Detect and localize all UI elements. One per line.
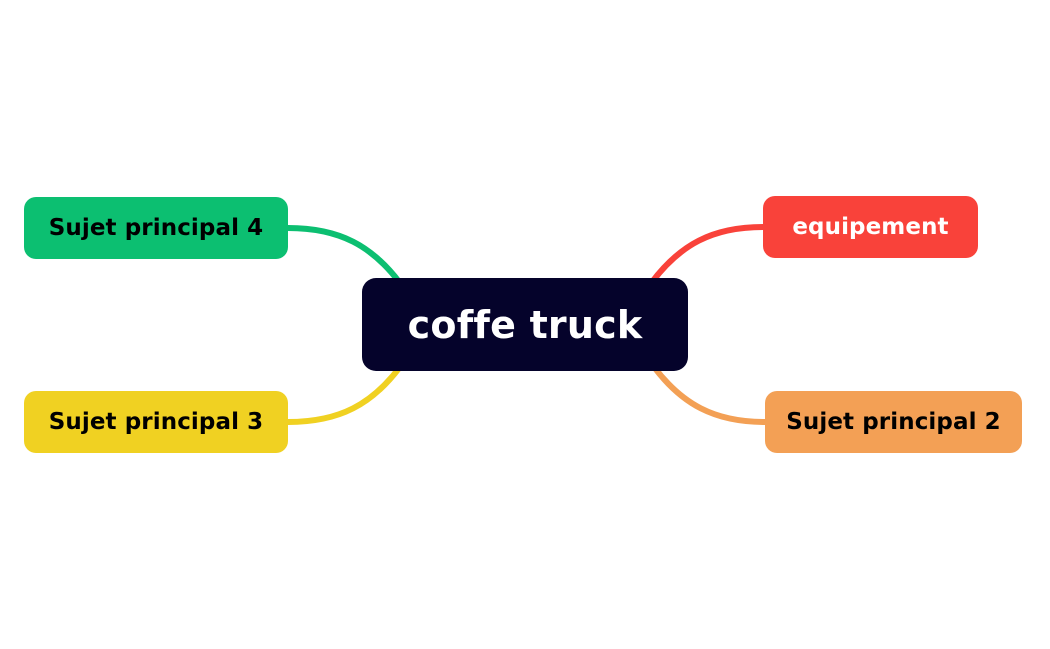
mindmap-node-label: equipement: [792, 216, 948, 239]
connector-root-to-green: [288, 228, 400, 283]
connector-root-to-orange: [654, 367, 765, 422]
mindmap-node-sujet-principal-2[interactable]: Sujet principal 2: [765, 391, 1022, 453]
mindmap-node-label: Sujet principal 2: [786, 411, 1001, 434]
mindmap-node-label: Sujet principal 4: [49, 217, 264, 240]
mindmap-root-node-label: coffe truck: [408, 306, 643, 344]
mindmap-node-sujet-principal-3[interactable]: Sujet principal 3: [24, 391, 288, 453]
mindmap-canvas: Sujet principal 4 Sujet principal 3 equi…: [0, 0, 1050, 649]
connector-root-to-yellow: [288, 367, 400, 422]
mindmap-node-sujet-principal-4[interactable]: Sujet principal 4: [24, 197, 288, 259]
mindmap-root-node[interactable]: coffe truck: [362, 278, 688, 371]
mindmap-node-equipement[interactable]: equipement: [763, 196, 978, 258]
mindmap-node-label: Sujet principal 3: [49, 411, 264, 434]
connector-root-to-red: [652, 227, 763, 282]
